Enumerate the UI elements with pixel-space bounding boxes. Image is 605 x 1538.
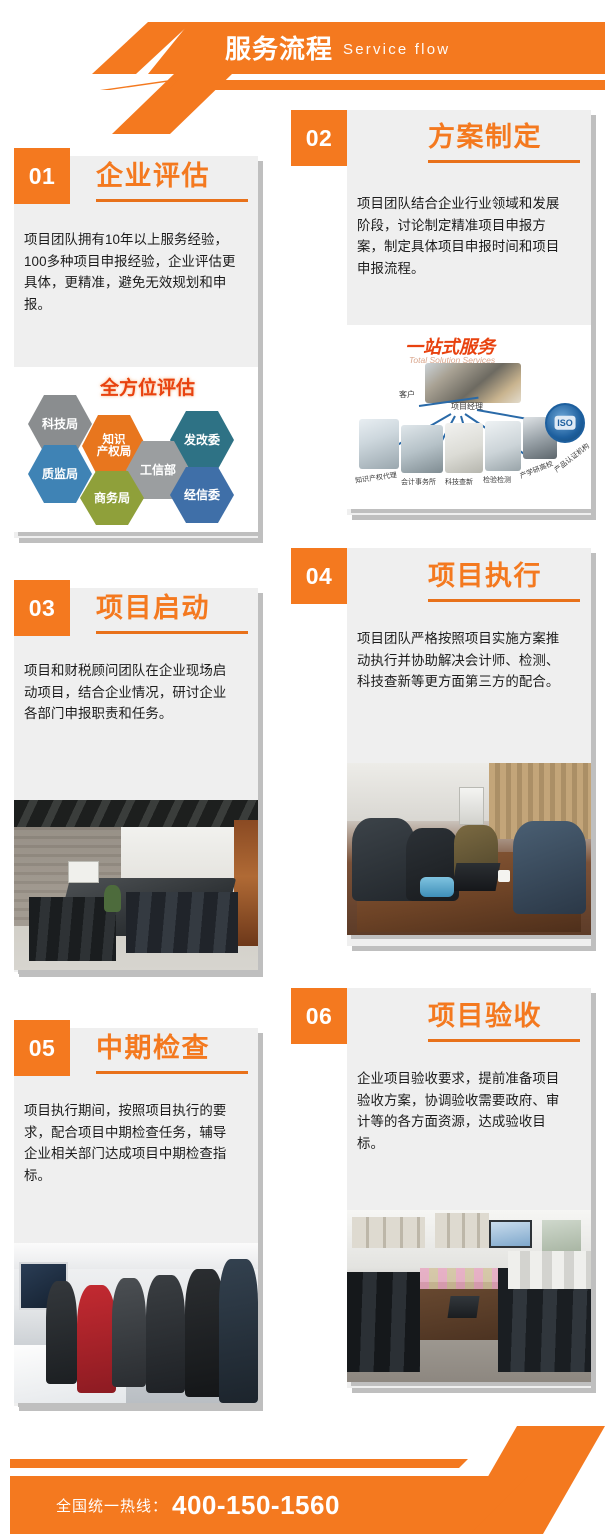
step-number-02: 02 <box>306 125 333 152</box>
oss-thumb-accounting <box>401 425 443 473</box>
page-title-cn: 服务流程 <box>225 36 333 62</box>
step-number-01: 01 <box>29 163 56 190</box>
footer-hotline-label: 全国统一热线： <box>56 1495 168 1516</box>
step-body-01: 项目团队拥有10年以上服务经验，100多种项目申报经验，企业评估更具体，更精准，… <box>24 229 238 316</box>
chairs-left <box>29 897 117 962</box>
step-body-04: 项目团队严格按照项目实施方案推动执行并协助解决会计师、检测、科技查新等更方面第三… <box>357 628 571 693</box>
step-title-01: 企业评估 <box>96 163 210 190</box>
step-title-02: 方案制定 <box>428 124 542 151</box>
hex-label: 知识 产权局 <box>97 434 132 458</box>
step-title-06: 项目验收 <box>428 1003 542 1030</box>
step-number-03: 03 <box>29 595 56 622</box>
step-number-badge-04: 04 <box>291 548 347 604</box>
footer-stripe <box>10 1459 440 1468</box>
step-title-03: 项目启动 <box>96 595 210 622</box>
step-body-03: 项目和财税顾问团队在企业现场启动项目，结合企业情况，研讨企业各部门申报职责和任务… <box>24 660 238 725</box>
attendees-white-shirts <box>508 1251 591 1289</box>
step-number-05: 05 <box>29 1035 56 1062</box>
certificate-frames-right <box>435 1213 489 1247</box>
step-title-rule-05 <box>96 1071 248 1074</box>
step-figure-04 <box>347 763 591 935</box>
header-stripe <box>168 80 605 90</box>
step-number-04: 04 <box>306 563 333 590</box>
footer-stripe-slant <box>428 1459 468 1468</box>
footer-hotline: 全国统一热线： 400-150-1560 <box>56 1476 340 1534</box>
person-dark-3 <box>146 1275 185 1393</box>
person-blue-jacket <box>219 1259 258 1403</box>
page-header: 服务流程 Service flow <box>0 0 605 105</box>
oss-item-label-0: 知识产权代理 <box>355 470 398 486</box>
oss-thumb-testing <box>485 421 521 471</box>
step-number-06: 06 <box>306 1003 333 1030</box>
footer-hotline-number[interactable]: 400-150-1560 <box>172 1490 340 1521</box>
step-figure-05 <box>14 1243 258 1403</box>
step-title-rule-03 <box>96 631 248 634</box>
step-title-05: 中期检查 <box>96 1035 210 1062</box>
blue-bag <box>420 877 454 898</box>
certificate-frames-left <box>352 1217 425 1248</box>
air-conditioner <box>459 787 483 825</box>
chairs-right <box>126 892 238 953</box>
laptop-front <box>452 863 501 891</box>
hex-label: 经信委 <box>184 489 220 502</box>
oss-certification-seal: ISO <box>545 403 585 443</box>
step-figure-03 <box>14 800 258 970</box>
hex-kejiju: 科技局 <box>28 395 92 453</box>
whiteboard <box>68 861 100 883</box>
step-title-rule-06 <box>428 1039 580 1042</box>
oss-node-label-customer: 客户 <box>399 389 415 400</box>
step-body-02: 项目团队结合企业行业领域和发展阶段，讨论制定精准项目申报方案，制定具体项目申报时… <box>357 193 571 280</box>
step-figure-01: 全方位评估 科技局 知识 产权局 发改委 质监局 工信部 商务局 经信委 <box>14 367 258 532</box>
page-title-en: Service flow <box>343 42 450 57</box>
step-title-rule-01 <box>96 199 248 202</box>
wall-board <box>542 1220 581 1251</box>
step-body-06: 企业项目验收要求，提前准备项目验收方案，协调验收需要政府、审计等的各方面资源，达… <box>357 1068 571 1155</box>
person-red-coat <box>77 1285 116 1394</box>
step-body-05: 项目执行期间，按照项目执行的要求，配合项目中期检查任务，辅导企业相关部门达成项目… <box>24 1100 238 1187</box>
person-right <box>513 821 586 914</box>
person-puffer-jacket <box>185 1269 224 1397</box>
hex-label: 质监局 <box>42 468 78 481</box>
person-dark-2 <box>112 1278 146 1387</box>
oss-item-label-4: 产学研高校 <box>518 459 554 481</box>
ceiling-pattern <box>14 800 258 827</box>
laptop-on-table <box>448 1296 480 1318</box>
oss-item-label-5: 产品认证机构 <box>552 441 591 475</box>
step-title-rule-02 <box>428 160 580 163</box>
service-flow-infographic: 服务流程 Service flow 01 企业评估 项目团队拥有10年以上服务经… <box>0 0 605 1538</box>
step-title-rule-04 <box>428 599 580 602</box>
hex-label: 工信部 <box>140 464 176 477</box>
step-number-badge-02: 02 <box>291 110 347 166</box>
hex-label: 商务局 <box>94 492 130 505</box>
plant <box>104 885 121 912</box>
step-figure-02: 一站式服务 Total Solution Services 客户 项目经理 IS… <box>347 325 591 509</box>
oss-thumb-ip <box>359 419 399 469</box>
hex-label: 发改委 <box>184 434 220 447</box>
oss-node-label-pm: 项目经理 <box>451 401 483 412</box>
presentation-screen <box>489 1220 533 1248</box>
step-number-badge-05: 05 <box>14 1020 70 1076</box>
step-title-04: 项目执行 <box>428 563 542 590</box>
oss-item-label-1: 会计事务所 <box>401 477 436 487</box>
oss-thumb-search <box>445 423 483 473</box>
chairs-foreground-left <box>347 1272 420 1372</box>
figure-caption-01: 全方位评估 <box>100 373 195 400</box>
oss-item-label-3: 检验检测 <box>483 475 511 485</box>
step-number-badge-01: 01 <box>14 148 70 204</box>
step-number-badge-06: 06 <box>291 988 347 1044</box>
person-dark-1 <box>46 1281 78 1383</box>
step-figure-06 <box>347 1210 591 1382</box>
page-footer: 全国统一热线： 400-150-1560 <box>0 1418 605 1538</box>
paper-cup <box>498 870 510 882</box>
page-title: 服务流程 Service flow <box>225 27 450 71</box>
step-number-badge-03: 03 <box>14 580 70 636</box>
hex-label: 科技局 <box>42 418 78 431</box>
oss-seal-text: ISO <box>555 416 576 430</box>
oss-item-label-2: 科技查新 <box>445 477 473 487</box>
